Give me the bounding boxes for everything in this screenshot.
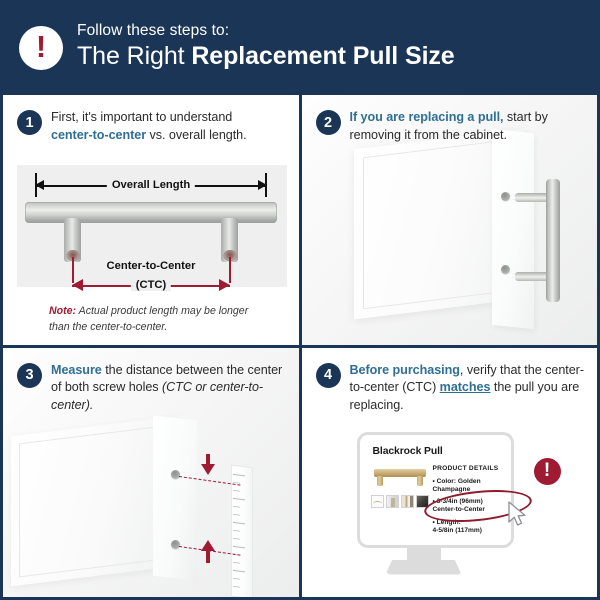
pull-bar-graphic xyxy=(546,179,560,302)
title-regular-part: The Right xyxy=(77,42,191,70)
note-label: Note: xyxy=(49,305,76,317)
ctc-arrow-head-left-icon xyxy=(72,279,83,291)
product-details-heading: PRODUCT DETAILS xyxy=(433,465,499,472)
screw-hole-top xyxy=(171,470,180,479)
step-number-badge-3: 3 xyxy=(17,363,42,388)
step-1-note: Note: Actual product length may be longe… xyxy=(49,303,264,336)
step-2-header: 2 If you are replacing a pull, start by … xyxy=(302,95,598,145)
step-3-text-accent: Measure xyxy=(51,363,102,377)
pull-dimension-diagram: Overall Length Center-to-Center xyxy=(25,173,277,298)
step-number-badge-4: 4 xyxy=(316,363,341,388)
pull-post-left xyxy=(64,218,81,262)
product-thumbnail[interactable] xyxy=(386,495,399,508)
screw-hole-top xyxy=(501,192,510,201)
product-pull-leg-left xyxy=(377,476,383,486)
exclamation-circle-icon: ! xyxy=(534,458,561,485)
exclamation-glyph: ! xyxy=(36,31,46,62)
infographic-root: ! Follow these steps to: The Right Repla… xyxy=(0,0,600,600)
step-1-text-plain2: vs. overall length. xyxy=(146,128,247,142)
product-thumbnail-strip[interactable] xyxy=(371,495,429,508)
step-4-copy: Before purchasing, verify that the cente… xyxy=(350,362,588,416)
step-1-text-accent: center-to-center xyxy=(51,128,146,142)
overall-length-label: Overall Length xyxy=(107,179,195,191)
step-1-text-plain: First, it's important to understand xyxy=(51,110,232,124)
exclamation-circle-icon: ! xyxy=(19,26,63,70)
step-panel-3: 3 Measure the distance between the cente… xyxy=(3,348,299,598)
cabinet-door-edge xyxy=(492,129,534,329)
steps-grid: 1 First, it's important to understand ce… xyxy=(3,92,597,597)
header-kicker: Follow these steps to: xyxy=(77,21,455,40)
step-number-badge-1: 1 xyxy=(17,110,42,135)
step-2-text-accent: If you are replacing a pull, xyxy=(350,110,504,124)
step-4-text-accent: Before purchasing xyxy=(350,363,460,377)
mouse-pointer-icon xyxy=(508,501,528,532)
ctc-label: Center-to-Center xyxy=(107,260,196,272)
ctc-abbreviation-label: (CTC) xyxy=(131,279,171,291)
arrow-head-left-icon xyxy=(35,180,44,190)
step-2-copy: If you are replacing a pull, start by re… xyxy=(350,109,588,145)
arrow-head-right-icon xyxy=(258,180,267,190)
product-thumbnail[interactable] xyxy=(401,495,414,508)
product-pull-leg-right xyxy=(417,476,423,486)
overall-length-dimension: Overall Length xyxy=(35,173,267,197)
step-3-copy: Measure the distance between the center … xyxy=(51,362,289,416)
header-banner: ! Follow these steps to: The Right Repla… xyxy=(3,3,597,92)
title-bold-part: Replacement Pull Size xyxy=(191,42,454,70)
page-title: The Right Replacement Pull Size xyxy=(77,41,455,72)
step-panel-1: 1 First, it's important to understand ce… xyxy=(3,95,299,345)
monitor-neck xyxy=(407,546,441,562)
cabinet-door-edge xyxy=(153,415,197,580)
step-number-badge-2: 2 xyxy=(316,110,341,135)
step-1-copy: First, it's important to understand cent… xyxy=(51,109,247,145)
ctc-arrow-head-right-icon xyxy=(219,279,230,291)
step-panel-2: 2 If you are replacing a pull, start by … xyxy=(302,95,598,345)
pull-bar-graphic xyxy=(25,202,277,223)
screw-hole-bottom xyxy=(501,265,510,274)
step-3-header: 3 Measure the distance between the cente… xyxy=(3,348,299,416)
monitor-screen: Blackrock Pull PRODUCT DETAILS • Color: … xyxy=(357,432,514,548)
measure-arrow-up-icon xyxy=(201,540,215,551)
step-4-header: 4 Before purchasing, verify that the cen… xyxy=(302,348,598,416)
exclamation-glyph: ! xyxy=(544,461,550,480)
product-title: Blackrock Pull xyxy=(373,446,443,457)
step-1-header: 1 First, it's important to understand ce… xyxy=(3,95,299,145)
step-4-text-link[interactable]: matches xyxy=(440,380,491,394)
header-text-block: Follow these steps to: The Right Replace… xyxy=(77,21,455,74)
ctc-dimension: Center-to-Center (CTC) xyxy=(72,276,230,294)
step-panel-4: 4 Before purchasing, verify that the cen… xyxy=(302,348,598,598)
measure-arrow-down-icon xyxy=(201,464,215,475)
screw-hole-bottom xyxy=(171,540,180,549)
product-thumbnail[interactable] xyxy=(371,495,384,508)
measure-arrow-stem-bottom xyxy=(206,551,210,563)
product-image xyxy=(374,465,426,487)
note-text: Actual product length may be longer than… xyxy=(49,305,248,333)
monitor-base xyxy=(386,560,462,575)
pull-post-right xyxy=(221,218,238,262)
